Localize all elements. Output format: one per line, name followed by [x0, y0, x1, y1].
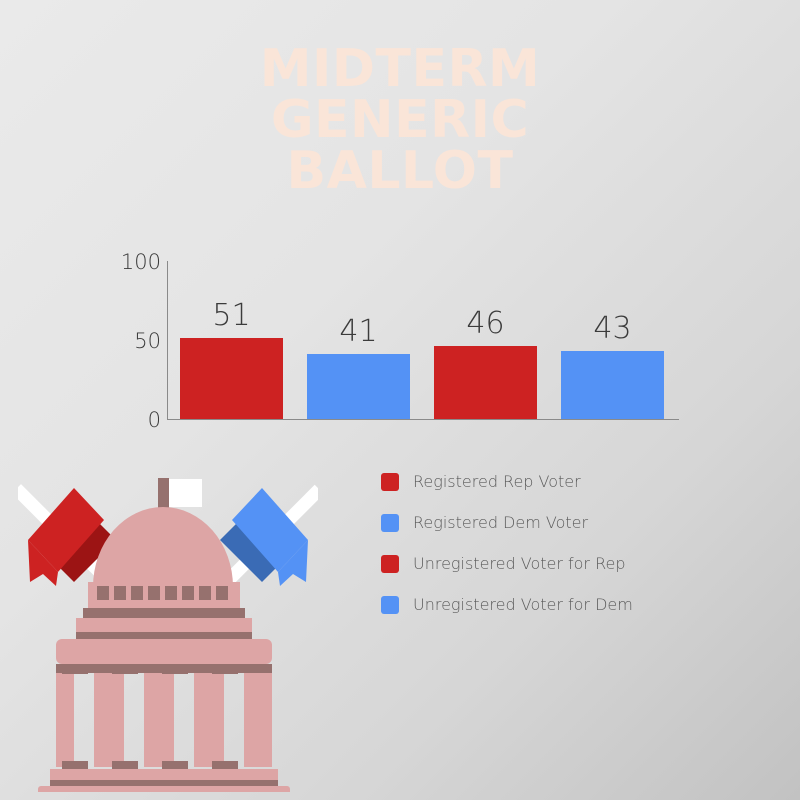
legend-item-0[interactable]: Registered Rep Voter [381, 461, 633, 502]
dome [93, 507, 233, 595]
y-tick-label-50: 50 [101, 329, 161, 353]
base-tier-2 [38, 786, 290, 792]
base-tier-1 [50, 769, 278, 780]
chart-legend: Registered Rep VoterRegistered Dem Voter… [381, 461, 633, 625]
bar-registered-dem [307, 354, 410, 419]
bar-registered-rep [180, 338, 283, 419]
legend-swatch-icon [381, 596, 399, 614]
bar-unregistered-dem-value-label: 43 [561, 311, 664, 346]
cornice-band-2 [76, 632, 252, 639]
infographic-canvas: MIDTERM GENERIC BALLOT 100 50 0 51414643… [0, 0, 800, 800]
legend-swatch-icon [381, 555, 399, 573]
capitol-building-illustration [18, 462, 318, 792]
y-tick-label-0: 0 [101, 408, 161, 432]
legend-item-2[interactable]: Unregistered Voter for Rep [381, 543, 633, 584]
legend-item-label: Unregistered Voter for Dem [413, 595, 633, 614]
bar-unregistered-rep-value-label: 46 [434, 306, 537, 341]
bar-registered-dem-value-label: 41 [307, 314, 410, 349]
x-axis-baseline [167, 419, 679, 420]
cornice-tier-1 [76, 618, 252, 632]
columns [56, 667, 272, 769]
legend-item-label: Unregistered Voter for Rep [413, 554, 626, 573]
legend-item-3[interactable]: Unregistered Voter for Dem [381, 584, 633, 625]
bar-unregistered-dem [561, 351, 664, 419]
legend-item-1[interactable]: Registered Dem Voter [381, 502, 633, 543]
legend-item-label: Registered Dem Voter [413, 513, 588, 532]
y-tick-label-100: 100 [101, 250, 161, 274]
bar-registered-rep-value-label: 51 [180, 298, 283, 333]
cornice-band-1 [83, 608, 245, 618]
entablature [56, 639, 272, 664]
legend-swatch-icon [381, 473, 399, 491]
base-band [50, 780, 278, 786]
legend-item-label: Registered Rep Voter [413, 472, 581, 491]
legend-swatch-icon [381, 514, 399, 532]
y-axis-line [167, 261, 168, 420]
bar-unregistered-rep [434, 346, 537, 419]
